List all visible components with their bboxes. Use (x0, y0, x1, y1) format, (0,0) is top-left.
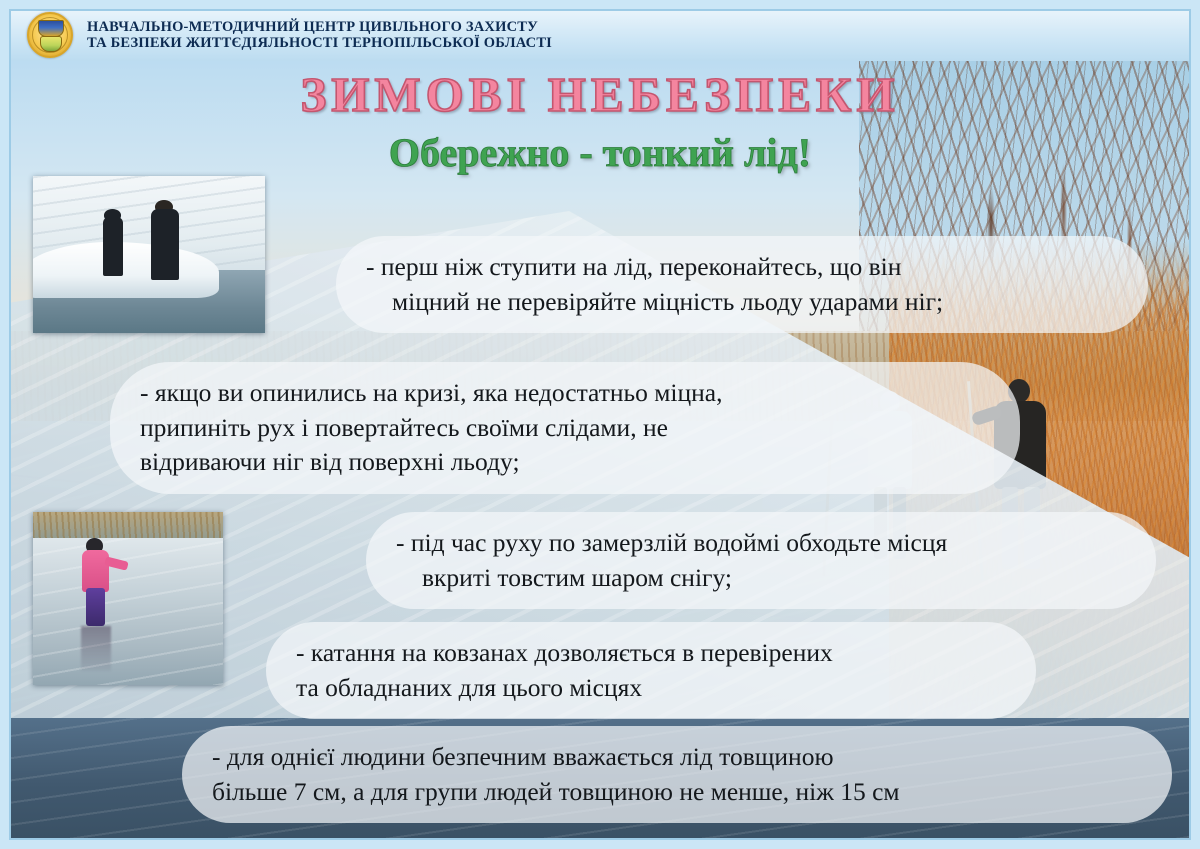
winter-ice-safety-poster: ЗИМОВІ НЕБЕЗПЕКИ Обережно - тонкий лід! … (0, 0, 1200, 849)
photo-two-people-on-ice-floe (33, 176, 265, 333)
organisation-name: НАВЧАЛЬНО-МЕТОДИЧНИЙ ЦЕНТР ЦИВІЛЬНОГО ЗА… (87, 19, 552, 51)
tip-3-line-1: - під час руху по замерзлій водоймі обхо… (396, 526, 1126, 561)
civil-protection-emblem-icon (27, 12, 73, 58)
tip-card-1: - перш ніж ступити на лід, переконайтесь… (336, 236, 1148, 333)
tip-5-line-1: - для однієї людини безпечним вважається… (212, 740, 1142, 775)
tip-card-3: - під час руху по замерзлій водоймі обхо… (366, 512, 1156, 609)
organisation-line-1: НАВЧАЛЬНО-МЕТОДИЧНИЙ ЦЕНТР ЦИВІЛЬНОГО ЗА… (87, 19, 552, 35)
tip-card-2: - якщо ви опинились на кризі, яка недост… (110, 362, 1020, 494)
tip-1-line-1: - перш ніж ступити на лід, переконайтесь… (366, 250, 1118, 285)
organisation-line-2: ТА БЕЗПЕКИ ЖИТТЄДІЯЛЬНОСТІ ТЕРНОПІЛЬСЬКО… (87, 35, 552, 51)
tip-card-5: - для однієї людини безпечним вважається… (182, 726, 1172, 823)
tip-2-line-3: відриваючи ніг від поверхні льоду; (140, 445, 990, 480)
tip-card-4: - катання на ковзанах дозволяється в пер… (266, 622, 1036, 719)
poster-header: НАВЧАЛЬНО-МЕТОДИЧНИЙ ЦЕНТР ЦИВІЛЬНОГО ЗА… (9, 9, 1191, 61)
poster-subtitle: Обережно - тонкий лід! (0, 129, 1200, 176)
tip-1-line-2: міцний не перевіряйте міцність льоду уда… (366, 285, 1118, 320)
photo-child-on-thin-ice (33, 512, 223, 685)
poster-titles: ЗИМОВІ НЕБЕЗПЕКИ Обережно - тонкий лід! (0, 66, 1200, 176)
tip-4-line-1: - катання на ковзанах дозволяється в пер… (296, 636, 1006, 671)
tip-5-line-2: більше 7 см, а для групи людей товщиною … (212, 775, 1142, 810)
poster-title: ЗИМОВІ НЕБЕЗПЕКИ (0, 66, 1200, 123)
tip-2-line-1: - якщо ви опинились на кризі, яка недост… (140, 376, 990, 411)
tip-2-line-2: припиніть рух і повертайтесь своїми слід… (140, 411, 990, 446)
tip-3-line-2: вкриті товстим шаром снігу; (396, 561, 1126, 596)
tip-4-line-2: та обладнаних для цього місцях (296, 671, 1006, 706)
